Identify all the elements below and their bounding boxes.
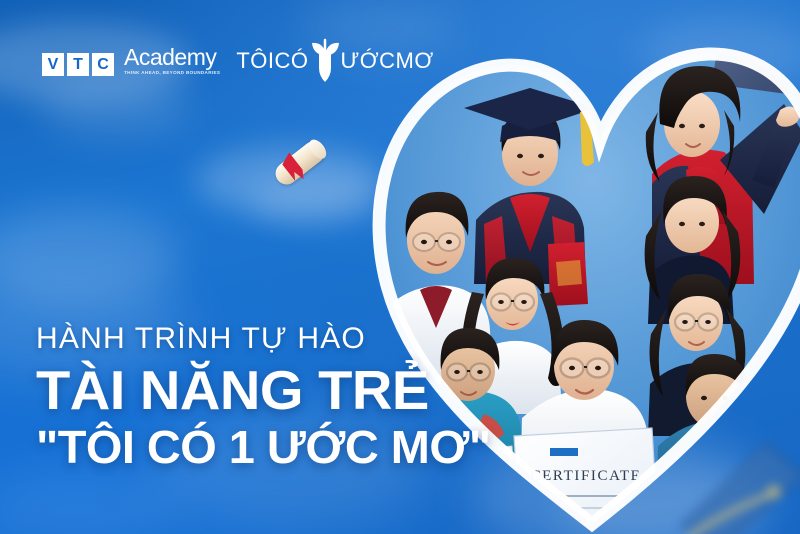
vtc-letter-marks: V T C — [42, 53, 114, 76]
banner-canvas: CERTIFICATE — [0, 0, 800, 534]
vtc-letter-v: V — [42, 53, 64, 76]
blurred-graduation-cap-icon — [648, 430, 800, 534]
cloud-decoration — [0, 470, 180, 534]
vtc-wordmark: Academy — [124, 46, 220, 69]
headline-line-2: TÀI NĂNG TRẺ — [36, 362, 491, 418]
program-logo[interactable]: TÔICÓ ƯỚCMƠ — [236, 38, 433, 84]
headline-block: HÀNH TRÌNH TỰ HÀO TÀI NĂNG TRẺ "TÔI CÓ 1… — [36, 322, 482, 471]
vtc-letter-c: C — [92, 53, 114, 76]
headline-line-1: HÀNH TRÌNH TỰ HÀO — [36, 322, 482, 356]
vtc-tagline: Think Ahead, Beyond Boundaries — [124, 71, 220, 76]
sprout-icon — [310, 38, 340, 84]
logo-bar: V T C Academy Think Ahead, Beyond Bounda… — [42, 38, 434, 84]
vtc-letter-t: T — [67, 53, 89, 76]
program-logo-text-left: TÔICÓ — [236, 48, 308, 74]
headline-line-3: "TÔI CÓ 1 ƯỚC MƠ" — [36, 424, 491, 471]
cloud-decoration — [40, 78, 190, 136]
diploma-scroll-icon — [271, 137, 329, 189]
cloud-decoration — [0, 208, 180, 304]
vtc-academy-logo[interactable]: V T C Academy Think Ahead, Beyond Bounda… — [42, 46, 220, 76]
program-logo-text-right: ƯỚCMƠ — [341, 48, 434, 74]
